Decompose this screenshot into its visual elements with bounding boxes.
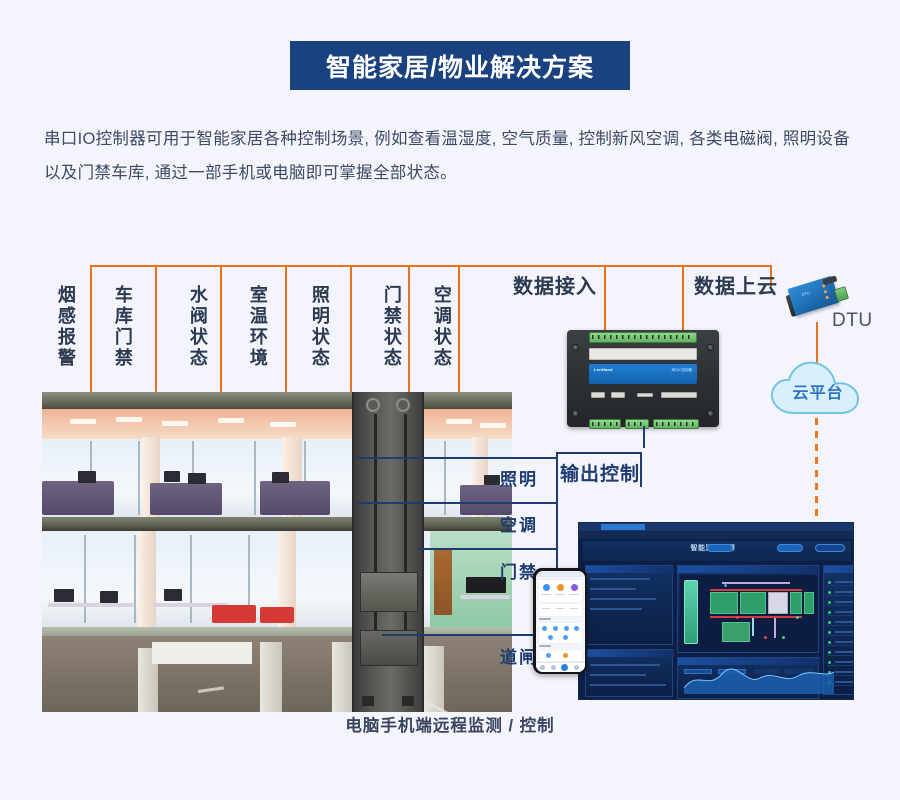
dashboard-chart-panel bbox=[677, 657, 819, 699]
dashboard-caption-wrap: 电脑手机端远程监测 / 控制 bbox=[0, 712, 900, 736]
dtu-device-text: DTU bbox=[801, 290, 810, 298]
io-terminal-bottom-mid bbox=[625, 419, 649, 429]
cloud-platform-label: 云平台 bbox=[770, 357, 866, 419]
sensor-label-garage: 车库门禁 bbox=[113, 285, 132, 369]
building-slab-1 bbox=[42, 517, 512, 531]
controller-output-lead bbox=[643, 426, 645, 448]
io-controller-device: LonHand 串口IO控制器 bbox=[567, 330, 719, 427]
elevator-shaft bbox=[352, 392, 424, 712]
output-control-title: 输出控制 bbox=[560, 459, 640, 486]
building-cutaway-illustration bbox=[42, 392, 512, 712]
io-terminal-top bbox=[589, 332, 697, 343]
dashboard-bottom-left-panel bbox=[585, 649, 673, 697]
io-terminal-bottom-right bbox=[653, 419, 699, 429]
dashboard-left-panel bbox=[585, 565, 673, 645]
sensor-label-valve: 水阀状态 bbox=[188, 285, 207, 369]
phone-screen bbox=[536, 571, 585, 672]
sensor-label-smoke: 烟感报警 bbox=[56, 285, 75, 369]
page-title: 智能家居/物业解决方案 bbox=[326, 48, 594, 84]
output-line-access bbox=[418, 548, 556, 550]
ingest-drop-line bbox=[604, 265, 606, 333]
sensor-label-hvac: 空调状态 bbox=[432, 285, 451, 369]
sensor-label-lighting: 照明状态 bbox=[310, 285, 329, 369]
dashboard-scada-panel bbox=[677, 565, 819, 653]
dashboard-screenshot: 智能监控大屏 bbox=[578, 522, 854, 700]
dashboard-caption: 电脑手机端远程监测 / 控制 bbox=[345, 717, 554, 735]
page-root: 智能家居/物业解决方案 串口IO控制器可用于智能家居各种控制场景, 例如查看温湿… bbox=[0, 0, 900, 800]
output-line-barrier bbox=[382, 634, 556, 636]
sensor-bus-rail bbox=[90, 265, 770, 267]
output-title-right bbox=[640, 452, 642, 487]
output-label-hvac: 空调 bbox=[500, 511, 538, 536]
building-floor-office-top bbox=[42, 409, 512, 517]
label-data-to-cloud: 数据上云 bbox=[694, 270, 778, 299]
building-floor-office-mid bbox=[42, 531, 512, 627]
building-garage bbox=[42, 636, 512, 712]
sensor-label-access: 门禁状态 bbox=[382, 285, 401, 369]
page-title-banner: 智能家居/物业解决方案 bbox=[290, 41, 630, 90]
io-terminal-bottom-left bbox=[589, 419, 621, 429]
io-board-label: LonHand 串口IO控制器 bbox=[589, 364, 697, 384]
label-data-ingest: 数据接入 bbox=[513, 270, 597, 299]
io-brand-text: LonHand bbox=[594, 367, 613, 372]
output-label-lighting: 照明 bbox=[500, 465, 538, 490]
output-line-lighting bbox=[356, 457, 556, 459]
building-roof bbox=[42, 392, 512, 409]
cloud-platform-shape: 云平台 bbox=[770, 357, 866, 419]
sensor-label-temp: 室温环境 bbox=[248, 285, 267, 369]
phone-bottom-nav[interactable] bbox=[536, 662, 585, 672]
phone-mockup bbox=[533, 568, 587, 674]
description-paragraph: 串口IO控制器可用于智能家居各种控制场景, 例如查看温湿度, 空气质量, 控制新… bbox=[44, 122, 862, 190]
cloud-to-dashboard-line bbox=[815, 418, 818, 522]
cloud-drop-line bbox=[682, 265, 684, 333]
io-model-text: 串口IO控制器 bbox=[671, 367, 692, 372]
output-line-hvac bbox=[357, 502, 556, 504]
output-title-top bbox=[556, 452, 640, 454]
